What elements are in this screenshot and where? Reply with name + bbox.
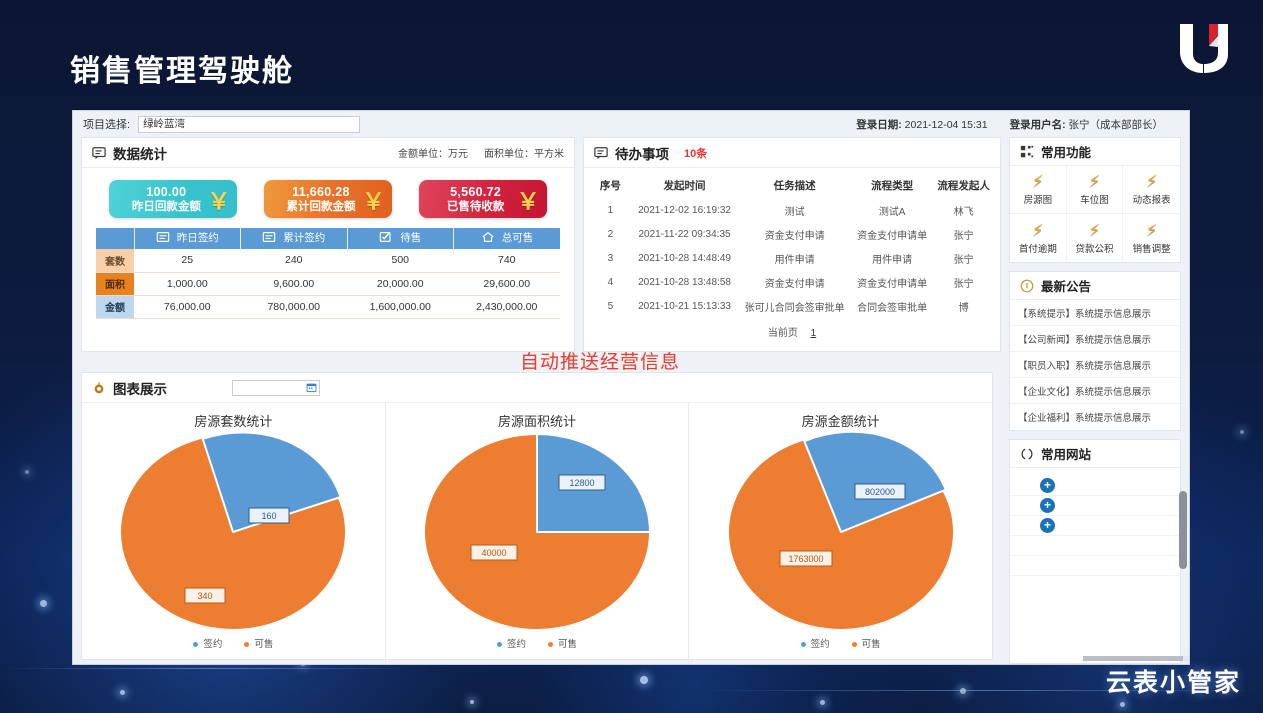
chart-title: 房源面积统计 [386, 411, 689, 430]
todo-cell-type: 资金支付申请单 [847, 222, 937, 246]
bokeh-dot [120, 690, 125, 695]
pie-chart[interactable]: 802000 1763000 [725, 432, 957, 632]
svg-text:802000: 802000 [865, 487, 895, 497]
sites-panel: 常用网站 + + + [1009, 439, 1181, 664]
function-item-xiaoshoutiaozheng[interactable]: ⚡ 销售调整 [1123, 214, 1180, 262]
todo-icon [594, 146, 608, 160]
list-item[interactable]: 【公司新闻】系统提示信息展示 [1010, 326, 1180, 352]
todo-col-header: 发起时间 [627, 172, 743, 198]
legend-item-signed[interactable]: 签约 [193, 636, 222, 650]
bokeh-dot [470, 700, 474, 704]
login-date-value: 2021-12-04 15:31 [905, 119, 988, 131]
kpi-caption: 已售待收款 [447, 199, 505, 213]
todo-cell-type: 测试A [847, 198, 937, 222]
site-row: + [1010, 476, 1180, 496]
svg-text:12800: 12800 [569, 478, 594, 488]
function-label: 首付逾期 [1019, 241, 1057, 255]
charts-row: 房源套数统计 160 340 [82, 403, 992, 665]
notice-list: 【系统提示】系统提示信息展示 【公司新闻】系统提示信息展示 【职员入职】系统提示… [1010, 300, 1180, 430]
svg-text:160: 160 [262, 511, 277, 521]
stats-row-label: 金额 [96, 295, 134, 318]
stats-cell: 1,000.00 [134, 272, 241, 295]
chart-fangyuan-taoshu: 房源套数统计 160 340 [82, 403, 386, 665]
legend-item-available[interactable]: 可售 [244, 636, 273, 650]
pie-chart[interactable]: 160 340 [117, 432, 349, 632]
stats-cell: 240 [241, 249, 348, 272]
todo-cell-type: 用件申请 [847, 246, 937, 270]
function-label: 动态报表 [1133, 192, 1171, 206]
login-date-label: 登录日期: [856, 119, 902, 131]
login-date: 登录日期: 2021-12-04 15:31 [856, 117, 987, 132]
app-window: 项目选择: 绿岭蓝湾 登录日期: 2021-12-04 15:31 登录用户名:… [72, 110, 1190, 665]
bolt-icon: ⚡ [1146, 173, 1158, 190]
chart-title: 房源套数统计 [82, 411, 385, 430]
kpi-row: 100.00 昨日回款金额 ￥ 11,660.28 累计回款金额 ￥ 5,560… [82, 168, 574, 226]
info-circle-icon [1020, 279, 1034, 293]
stats-cell: 780,000.00 [241, 295, 348, 318]
kpi-card-yesterday-receipt[interactable]: 100.00 昨日回款金额 ￥ [109, 180, 237, 218]
kpi-card-total-receipt[interactable]: 11,660.28 累计回款金额 ￥ [264, 180, 392, 218]
stats-col-label: 待售 [400, 230, 421, 245]
stats-panel-title: 数据统计 [113, 143, 167, 163]
table-row[interactable]: 3 2021-10-28 14:48:49 用件申请 用件申请 张宁 [594, 246, 990, 270]
stats-row-label: 套数 [96, 249, 134, 272]
todo-cell-desc: 张可儿合同会签审批单 [742, 294, 847, 318]
contract-icon [156, 230, 170, 244]
functions-panel-title: 常用功能 [1041, 142, 1091, 161]
todo-cell-time: 2021-10-28 13:48:58 [627, 270, 743, 294]
bolt-icon: ⚡ [1032, 173, 1044, 190]
chart-panel-icon [92, 146, 106, 160]
chart-panel: 图表展示 房源套数统计 [81, 372, 993, 660]
stats-col-label: 总可售 [502, 230, 534, 245]
pie-label-orange: 1763000 [780, 551, 832, 566]
todo-col-header: 序号 [594, 172, 627, 198]
add-site-button[interactable]: + [1040, 518, 1055, 533]
function-label: 贷款公积 [1075, 241, 1113, 255]
stats-col-header: 待售 [347, 228, 454, 249]
notice-panel-title: 最新公告 [1041, 276, 1091, 295]
pie-label-blue: 802000 [855, 484, 905, 499]
project-select-input[interactable]: 绿岭蓝湾 [138, 116, 360, 133]
add-site-button[interactable]: + [1040, 498, 1055, 513]
unit-area: 面积单位：平方米 [484, 145, 564, 160]
todo-count-badge: 10条 [684, 145, 707, 161]
legend-label: 签约 [507, 639, 526, 650]
chart-legend: 签约 可售 [82, 636, 385, 650]
vertical-scrollbar-thumb[interactable] [1179, 491, 1187, 569]
yen-icon: ￥ [517, 182, 540, 216]
stats-cell: 29,600.00 [454, 272, 561, 295]
pie-label-orange: 40000 [471, 545, 517, 560]
todo-cell-desc: 资金支付申请 [742, 270, 847, 294]
stats-col-header: 总可售 [454, 228, 561, 249]
bolt-icon: ⚡ [1089, 173, 1101, 190]
stats-table: 昨日签约 累计签约 [96, 228, 560, 319]
horizontal-scrollbar-thumb[interactable] [1083, 656, 1183, 661]
stats-cell: 1,600,000.00 [347, 295, 454, 318]
function-label: 销售调整 [1133, 241, 1171, 255]
todo-col-header: 流程类型 [847, 172, 937, 198]
login-user-value: 张宁（成本部部长） [1069, 119, 1164, 131]
function-label: 车位图 [1080, 192, 1109, 206]
chart-panel-header: 图表展示 [82, 373, 992, 403]
functions-panel-header: 常用功能 [1010, 138, 1180, 166]
right-column: 常用功能 ⚡ 房源图 ⚡ 车位图 ⚡ 动态报表 [1009, 137, 1181, 664]
todo-cell-owner: 林飞 [937, 198, 990, 222]
bokeh-dot [1120, 702, 1125, 707]
annotation-text: 自动推送经营信息 [520, 347, 680, 374]
chart-date-input[interactable] [232, 380, 320, 396]
list-item[interactable]: 【企业福利】系统提示信息展示 [1010, 404, 1180, 430]
todo-panel: 待办事项 10条 序号 发起时间 任务描述 流程类型 流程发起人 [583, 137, 1001, 352]
todo-panel-title: 待办事项 [615, 143, 669, 163]
checklist-icon [379, 230, 393, 244]
bolt-icon: ⚡ [1146, 222, 1158, 239]
notice-panel: 最新公告 【系统提示】系统提示信息展示 【公司新闻】系统提示信息展示 【职员入职… [1009, 271, 1181, 431]
home-icon [481, 230, 495, 244]
login-user: 登录用户名: 张宁（成本部部长） [1010, 117, 1163, 132]
u-logo [1176, 22, 1232, 74]
yen-icon: ￥ [362, 182, 385, 216]
todo-cell-index: 2 [594, 222, 627, 246]
app-topbar: 项目选择: 绿岭蓝湾 登录日期: 2021-12-04 15:31 登录用户名:… [73, 111, 1189, 137]
yen-icon: ￥ [207, 182, 230, 216]
contract-icon [262, 230, 276, 244]
list-item[interactable]: 【系统提示】系统提示信息展示 [1010, 300, 1180, 326]
pager-label: 当前页 [768, 328, 798, 339]
stats-row-label: 面积 [96, 272, 134, 295]
target-icon [92, 381, 106, 395]
svg-text:1763000: 1763000 [788, 554, 823, 564]
todo-cell-time: 2021-11-22 09:34:35 [627, 222, 743, 246]
todo-cell-desc: 测试 [742, 198, 847, 222]
todo-cell-index: 4 [594, 270, 627, 294]
project-select-label: 项目选择: [83, 116, 130, 132]
stats-units: 金额单位：万元 面积单位：平方米 [398, 145, 564, 160]
kpi-card-receivable[interactable]: 5,560.72 已售待收款 ￥ [419, 180, 547, 218]
svg-text:340: 340 [198, 591, 213, 601]
todo-table: 序号 发起时间 任务描述 流程类型 流程发起人 1 2021-12-02 16:… [594, 172, 990, 318]
pie-holder: 160 340 [82, 432, 385, 632]
stats-cell: 76,000.00 [134, 295, 241, 318]
legend-label: 可售 [558, 639, 577, 650]
site-row [1010, 576, 1180, 596]
functions-grid: ⚡ 房源图 ⚡ 车位图 ⚡ 动态报表 ⚡ 首付逾期 [1010, 166, 1180, 262]
todo-cell-type: 资金支付申请单 [847, 270, 937, 294]
site-row: + [1010, 496, 1180, 516]
stats-corner-cell [96, 228, 134, 249]
todo-cell-type: 合同会签审批单 [847, 294, 937, 318]
function-label: 房源图 [1024, 192, 1053, 206]
site-row [1010, 536, 1180, 556]
todo-cell-index: 3 [594, 246, 627, 270]
kpi-value: 11,660.28 [292, 185, 350, 199]
todo-cell-desc: 资金支付申请 [742, 222, 847, 246]
function-item-dongtaibaobiao[interactable]: ⚡ 动态报表 [1123, 166, 1180, 214]
chart-legend: 签约 可售 [689, 636, 992, 650]
table-row: 面积 1,000.00 9,600.00 20,000.00 29,600.00 [96, 272, 560, 295]
kpi-value: 100.00 [146, 185, 186, 199]
function-item-shoufuyuqi[interactable]: ⚡ 首付逾期 [1010, 214, 1067, 262]
link-icon [1020, 447, 1034, 461]
legend-label: 签约 [811, 639, 830, 650]
pie-holder: 12800 40000 [386, 432, 689, 632]
bokeh-dot [960, 688, 966, 694]
todo-header-row: 序号 发起时间 任务描述 流程类型 流程发起人 [594, 172, 990, 198]
legend-swatch-orange [244, 642, 249, 647]
legend-swatch-blue [193, 642, 198, 647]
unit-amount: 金额单位：万元 [398, 145, 468, 160]
todo-pager: 当前页 1 [594, 318, 990, 347]
kpi-caption: 昨日回款金额 [132, 199, 201, 213]
pie-chart[interactable]: 12800 40000 [421, 432, 653, 632]
chart-legend: 签约 可售 [386, 636, 689, 650]
stats-panel: 数据统计 金额单位：万元 面积单位：平方米 100.00 昨日回款金额 ￥ 11… [81, 137, 575, 352]
pie-holder: 802000 1763000 [689, 432, 992, 632]
table-row[interactable]: 4 2021-10-28 13:48:58 资金支付申请 资金支付申请单 张宁 [594, 270, 990, 294]
todo-cell-time: 2021-12-02 16:19:32 [627, 198, 743, 222]
chart-title: 房源金额统计 [689, 411, 992, 430]
bokeh-dot [1240, 430, 1244, 434]
todo-cell-time: 2021-10-28 14:48:49 [627, 246, 743, 270]
kpi-caption: 累计回款金额 [286, 199, 355, 213]
stats-panel-header: 数据统计 金额单位：万元 面积单位：平方米 [82, 138, 574, 168]
page-title: 销售管理驾驶舱 [70, 46, 294, 90]
legend-swatch-orange [852, 642, 857, 647]
table-row: 套数 25 240 500 740 [96, 249, 560, 272]
stats-col-label: 累计签约 [283, 230, 325, 245]
stats-col-header: 昨日签约 [134, 228, 241, 249]
kpi-value: 5,560.72 [450, 185, 501, 199]
todo-cell-index: 1 [594, 198, 627, 222]
legend-item-signed[interactable]: 签约 [497, 636, 526, 650]
chart-panel-title: 图表展示 [113, 378, 167, 398]
table-row[interactable]: 2 2021-11-22 09:34:35 资金支付申请 资金支付申请单 张宁 [594, 222, 990, 246]
todo-cell-desc: 用件申请 [742, 246, 847, 270]
bokeh-dot [640, 676, 648, 684]
legend-item-available[interactable]: 可售 [548, 636, 577, 650]
pager-page-1[interactable]: 1 [811, 328, 817, 339]
stats-cell: 25 [134, 249, 241, 272]
calendar-icon[interactable] [306, 382, 317, 393]
legend-swatch-blue [497, 642, 502, 647]
glow-line [0, 668, 420, 669]
function-item-fangyuantu[interactable]: ⚡ 房源图 [1010, 166, 1067, 214]
legend-item-available[interactable]: 可售 [852, 636, 881, 650]
pie-label-blue: 160 [249, 508, 289, 523]
legend-swatch-blue [801, 642, 806, 647]
legend-label: 可售 [254, 639, 273, 650]
legend-label: 可售 [862, 639, 881, 650]
function-item-daikuangongji[interactable]: ⚡ 贷款公积 [1067, 214, 1124, 262]
stats-cell: 20,000.00 [347, 272, 454, 295]
grid-icon [1020, 145, 1034, 159]
todo-panel-header: 待办事项 10条 [584, 138, 1000, 168]
notice-panel-header: 最新公告 [1010, 272, 1180, 300]
watermark: 云表小管家 [1106, 663, 1241, 699]
todo-cell-owner: 博 [937, 294, 990, 318]
table-row[interactable]: 1 2021-12-02 16:19:32 测试 测试A 林飞 [594, 198, 990, 222]
sites-panel-title: 常用网站 [1041, 444, 1091, 463]
stats-col-header: 累计签约 [241, 228, 348, 249]
todo-cell-owner: 张宁 [937, 222, 990, 246]
todo-col-header: 流程发起人 [937, 172, 990, 198]
stats-cell: 2,430,000.00 [454, 295, 561, 318]
stats-cell: 500 [347, 249, 454, 272]
todo-cell-owner: 张宁 [937, 246, 990, 270]
chart-fangyuan-mianji: 房源面积统计 12800 40000 [386, 403, 690, 665]
todo-cell-index: 5 [594, 294, 627, 318]
table-row[interactable]: 5 2021-10-21 15:13:33 张可儿合同会签审批单 合同会签审批单… [594, 294, 990, 318]
stats-table-header-row: 昨日签约 累计签约 [96, 228, 560, 249]
table-row: 金额 76,000.00 780,000.00 1,600,000.00 2,4… [96, 295, 560, 318]
login-info: 登录日期: 2021-12-04 15:31 登录用户名: 张宁（成本部部长） [856, 117, 1179, 132]
sites-panel-header: 常用网站 [1010, 440, 1180, 468]
svg-text:40000: 40000 [481, 548, 506, 558]
bolt-icon: ⚡ [1032, 222, 1044, 239]
login-user-label: 登录用户名: [1010, 119, 1066, 131]
site-row [1010, 556, 1180, 576]
todo-table-wrap: 序号 发起时间 任务描述 流程类型 流程发起人 1 2021-12-02 16:… [584, 168, 1000, 347]
todo-cell-owner: 张宁 [937, 270, 990, 294]
pie-label-blue: 12800 [559, 475, 605, 490]
site-row: + [1010, 516, 1180, 536]
stats-cell: 9,600.00 [241, 272, 348, 295]
pie-label-orange: 340 [185, 588, 225, 603]
list-item[interactable]: 【企业文化】系统提示信息展示 [1010, 378, 1180, 404]
todo-col-header: 任务描述 [742, 172, 847, 198]
bolt-icon: ⚡ [1089, 222, 1101, 239]
add-site-button[interactable]: + [1040, 478, 1055, 493]
bokeh-dot [40, 600, 47, 607]
todo-cell-time: 2021-10-21 15:13:33 [627, 294, 743, 318]
legend-label: 签约 [203, 639, 222, 650]
bokeh-dot [25, 470, 29, 474]
functions-panel: 常用功能 ⚡ 房源图 ⚡ 车位图 ⚡ 动态报表 [1009, 137, 1181, 263]
legend-swatch-orange [548, 642, 553, 647]
function-item-cheweitu[interactable]: ⚡ 车位图 [1067, 166, 1124, 214]
chart-fangyuan-jine: 房源金额统计 802000 1763000 [689, 403, 992, 665]
stats-table-wrap: 昨日签约 累计签约 [82, 226, 574, 329]
sites-list: + + + [1010, 468, 1180, 602]
legend-item-signed[interactable]: 签约 [801, 636, 830, 650]
list-item[interactable]: 【职员入职】系统提示信息展示 [1010, 352, 1180, 378]
stats-col-label: 昨日签约 [177, 230, 219, 245]
bokeh-dot [820, 700, 825, 705]
stats-cell: 740 [454, 249, 561, 272]
